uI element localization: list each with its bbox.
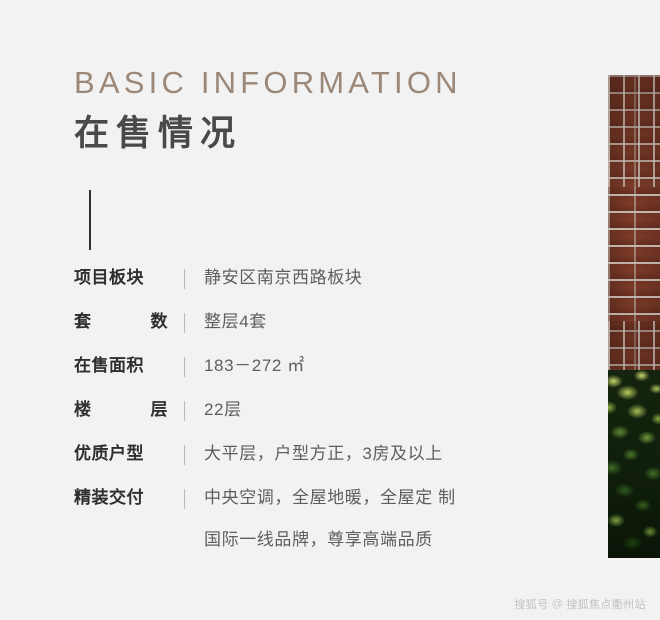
- info-value-line: 大平层，户型方正，3房及以上: [204, 441, 443, 467]
- info-row: 在售面积 183－272 ㎡: [74, 353, 594, 379]
- info-value: 静安区南京西路板块: [204, 265, 362, 291]
- info-label-char: 数: [151, 309, 169, 335]
- info-value: 22层: [204, 397, 242, 423]
- watermark-at-symbol: @: [552, 598, 564, 610]
- info-label: 优质户型: [74, 441, 170, 467]
- foliage-shrub: [608, 370, 660, 558]
- info-label: 精装交付: [74, 485, 170, 511]
- info-label-char: 层: [151, 397, 169, 423]
- brick-wall-photo-strip: [608, 75, 660, 558]
- info-value-line: 国际一线品牌，尊享高端品质: [204, 527, 456, 553]
- info-value-line: 整层4套: [204, 309, 267, 335]
- heading-block: BASIC INFORMATION 在售情况: [74, 66, 462, 154]
- page-title: 在售情况: [74, 114, 462, 154]
- watermark-account: 搜狐焦点衢州站: [566, 596, 646, 612]
- info-value: 中央空调，全屋地暖，全屋定 制 国际一线品牌，尊享高端品质: [204, 485, 456, 553]
- eyebrow-title: BASIC INFORMATION: [74, 66, 462, 100]
- basic-information-poster: BASIC INFORMATION 在售情况 项目板块 静安区南京西路板块 套 …: [0, 0, 660, 620]
- info-row: 楼 层 22层: [74, 397, 594, 423]
- info-row: 项目板块 静安区南京西路板块: [74, 265, 594, 291]
- label-value-separator: [184, 445, 185, 465]
- info-value: 大平层，户型方正，3房及以上: [204, 441, 443, 467]
- info-row: 优质户型 大平层，户型方正，3房及以上: [74, 441, 594, 467]
- info-label: 在售面积: [74, 353, 170, 379]
- info-label-char: 套: [74, 309, 92, 335]
- info-label-char: 楼: [74, 397, 92, 423]
- label-value-separator: [184, 313, 185, 333]
- label-value-separator: [184, 401, 185, 421]
- info-value-line: 183－272 ㎡: [204, 353, 305, 379]
- info-row: 精装交付 中央空调，全屋地暖，全屋定 制 国际一线品牌，尊享高端品质: [74, 485, 594, 553]
- info-value-line: 静安区南京西路板块: [204, 265, 362, 291]
- info-label: 套 数: [74, 309, 170, 335]
- info-value: 183－272 ㎡: [204, 353, 305, 379]
- info-row: 套 数 整层4套: [74, 309, 594, 335]
- watermark: 搜狐号 @ 搜狐焦点衢州站: [514, 596, 646, 612]
- label-value-separator: [184, 269, 185, 289]
- info-list: 项目板块 静安区南京西路板块 套 数 整层4套 在售面积 183－272 ㎡: [74, 265, 594, 553]
- info-label: 项目板块: [74, 265, 170, 291]
- label-value-separator: [184, 357, 185, 377]
- info-value-line: 中央空调，全屋地暖，全屋定 制: [204, 485, 456, 511]
- info-value: 整层4套: [204, 309, 267, 335]
- watermark-prefix: 搜狐号: [514, 596, 548, 612]
- label-value-separator: [184, 489, 185, 509]
- info-label: 楼 层: [74, 397, 170, 423]
- accent-rule-divider: [89, 190, 91, 250]
- info-value-line: 22层: [204, 397, 242, 423]
